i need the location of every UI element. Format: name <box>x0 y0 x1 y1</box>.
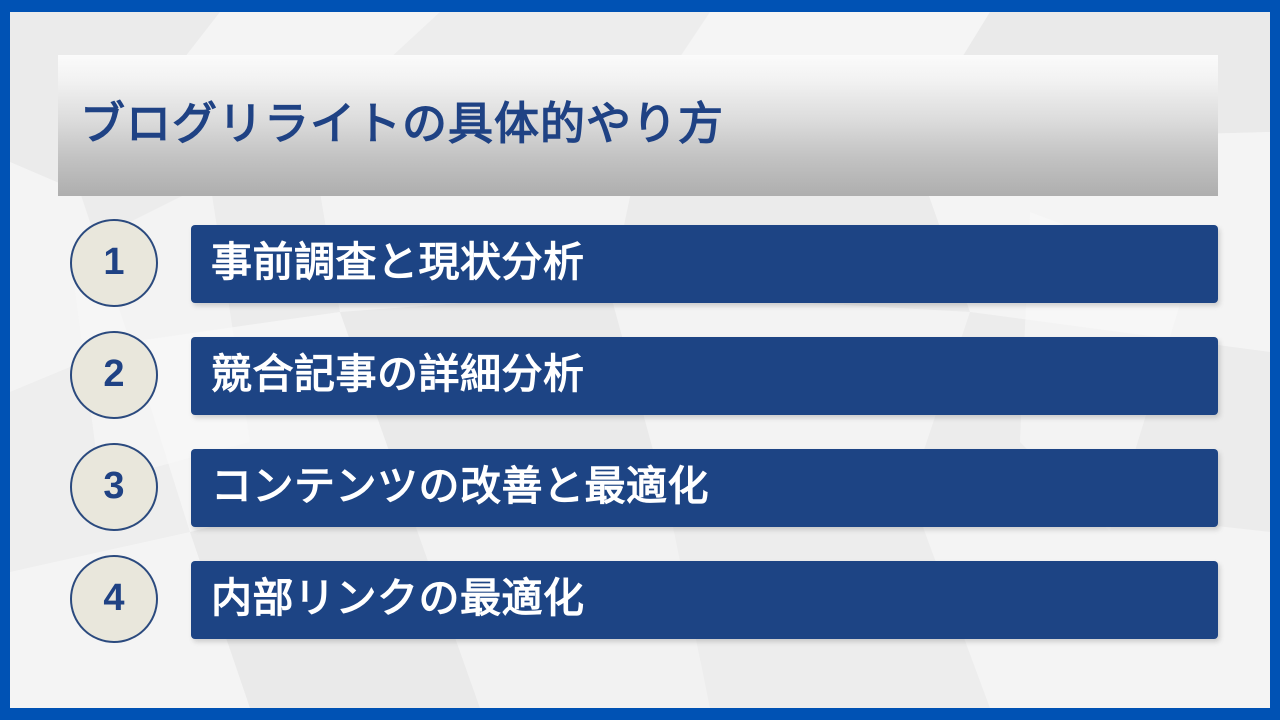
step-number-badge: 4 <box>70 555 158 643</box>
step-bar[interactable]: コンテンツの改善と最適化 <box>191 449 1218 527</box>
step-number: 2 <box>103 355 124 393</box>
step-label: 競合記事の詳細分析 <box>211 354 585 395</box>
title-banner: ブログリライトの具体的やり方 <box>58 55 1218 196</box>
step-number-badge: 2 <box>70 331 158 419</box>
step-bar[interactable]: 内部リンクの最適化 <box>191 561 1218 639</box>
step-number-badge: 3 <box>70 443 158 531</box>
step-bar[interactable]: 競合記事の詳細分析 <box>191 337 1218 415</box>
step-number: 3 <box>103 467 124 505</box>
step-label: 事前調査と現状分析 <box>211 242 585 283</box>
list-item[interactable]: 3 コンテンツの改善と最適化 <box>10 449 1270 527</box>
slide-canvas: ブログリライトの具体的やり方 1 事前調査と現状分析 2 競合記事の詳細分析 <box>10 12 1270 708</box>
step-bar[interactable]: 事前調査と現状分析 <box>191 225 1218 303</box>
numbered-step-list: 1 事前調査と現状分析 2 競合記事の詳細分析 3 コンテン <box>10 225 1270 673</box>
step-label: コンテンツの改善と最適化 <box>211 466 709 507</box>
step-number: 4 <box>103 579 124 617</box>
list-item[interactable]: 4 内部リンクの最適化 <box>10 561 1270 639</box>
slide-frame: ブログリライトの具体的やり方 1 事前調査と現状分析 2 競合記事の詳細分析 <box>0 0 1280 720</box>
step-number: 1 <box>103 243 124 281</box>
list-item[interactable]: 1 事前調査と現状分析 <box>10 225 1270 303</box>
step-number-badge: 1 <box>70 219 158 307</box>
step-label: 内部リンクの最適化 <box>211 578 585 619</box>
page-title: ブログリライトの具体的やり方 <box>80 101 724 146</box>
list-item[interactable]: 2 競合記事の詳細分析 <box>10 337 1270 415</box>
